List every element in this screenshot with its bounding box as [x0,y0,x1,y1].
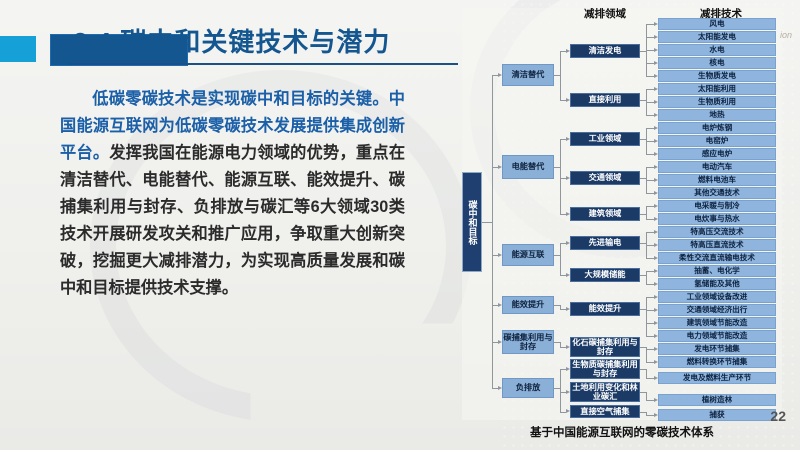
root-node-carbon-neutral-goal[interactable]: 碳中和目标 [462,172,482,272]
technology-tree-diagram: 减排领域 减排技术 碳中和目标 清洁替代电能替代能源互联能效提升碳捕集利用与封存… [452,0,800,450]
connector-line [646,167,654,168]
connector-line [646,245,654,246]
tech-node-24[interactable]: 电力领域节能改造 [658,330,776,342]
connector-line [646,297,654,298]
connector-line [646,76,654,77]
tech-node-11[interactable]: 电动汽车 [658,161,776,173]
connector-line [646,141,654,142]
connector-line [646,37,654,38]
connector-line [646,392,647,400]
tech-node-2[interactable]: 水电 [658,44,776,56]
level2-node-5[interactable]: 负排放 [502,378,554,398]
connector-line [482,222,492,223]
connector-line [560,243,561,275]
body-rest: 发挥我国在能源电力领域的优势，重点在清洁替代、电能替代、能源互联、能效提升、碳捕… [60,144,405,297]
tech-node-15[interactable]: 电炊事与热水 [658,213,776,225]
tech-node-1[interactable]: 太阳能发电 [658,31,776,43]
tech-node-18[interactable]: 柔性交流直流输电技术 [658,252,776,264]
tech-node-8[interactable]: 电炉炼钢 [658,122,776,134]
tech-node-3[interactable]: 核电 [658,57,776,69]
connector-line [646,378,654,379]
tech-node-4[interactable]: 生物质发电 [658,70,776,82]
page-number: 22 [770,408,786,424]
connector-line [646,50,654,51]
connector-line [646,180,654,181]
tech-node-22[interactable]: 交通领域经济出行 [658,304,776,316]
level3-node-3[interactable]: 交通领域 [570,171,640,185]
tech-node-25[interactable]: 发电环节捕集 [658,343,776,355]
connector-line [646,206,647,219]
connector-line [646,128,654,129]
connector-line [646,284,654,285]
connector-line [560,139,561,214]
page-title: 3.4 碳中和关键技术与潜力 [73,22,390,59]
level3-node-2[interactable]: 工业领域 [570,132,640,146]
tech-node-19[interactable]: 抽蓄、电化学 [658,265,776,277]
tech-node-28[interactable]: 植树造林 [658,394,776,406]
level3-node-8[interactable]: 化石碳捕集利用与封存 [570,337,640,357]
tech-node-0[interactable]: 风电 [658,18,776,30]
connector-line [646,400,654,401]
connector-line [560,51,561,100]
connector-line [646,336,654,337]
connector-line [646,271,647,284]
tech-node-26[interactable]: 燃料转换环节捕集 [658,356,776,368]
connector-line [646,323,654,324]
tech-node-20[interactable]: 氢储能及其他 [658,278,776,290]
connector-line [646,24,654,25]
connector-line [646,193,654,194]
connector-line [646,63,654,64]
connector-line [646,258,654,259]
level3-node-11[interactable]: 直接空气捕集 [570,405,640,418]
tech-node-5[interactable]: 太阳能利用 [658,83,776,95]
tech-node-21[interactable]: 工业领域设备改进 [658,291,776,303]
tech-node-23[interactable]: 建筑领域节能改造 [658,317,776,329]
tech-node-16[interactable]: 特高压交流技术 [658,226,776,238]
level3-node-1[interactable]: 直接利用 [570,93,640,107]
level2-node-0[interactable]: 清洁替代 [502,64,554,86]
ghost-watermark-text: ion [780,30,792,40]
slide-canvas: 3.4 碳中和关键技术与潜力 低碳零碳技术是实现碳中和目标的关键。中国能源互联网… [0,0,800,450]
connector-line [646,349,654,350]
level2-node-3[interactable]: 能效提升 [502,296,554,314]
connector-line [646,219,654,220]
connector-line [646,154,654,155]
title-underline [68,63,458,65]
column-header-area: 减排领域 [558,6,652,21]
tech-node-27[interactable]: 发电及燃料生产环节 [658,372,776,384]
tech-node-10[interactable]: 感应电炉 [658,148,776,160]
connector-line [646,297,647,336]
figure-caption: 基于中国能源互联网的零碳技术体系 [452,424,792,440]
tech-node-14[interactable]: 电采暖与制冷 [658,200,776,212]
level3-node-7[interactable]: 能效提升 [570,302,640,316]
level2-node-1[interactable]: 电能替代 [502,155,554,179]
level3-node-4[interactable]: 建筑领域 [570,207,640,221]
tech-node-17[interactable]: 特高压直流技术 [658,239,776,251]
connector-line [646,271,654,272]
level2-node-4[interactable]: 碳捕集利用与封存 [502,330,554,354]
accent-block-cyan [0,36,36,62]
body-paragraph: 低碳零碳技术是实现碳中和目标的关键。中国能源互联网为低碳零碳技术发展提供集成创新… [60,86,405,302]
tech-node-12[interactable]: 燃料电池车 [658,174,776,186]
connector-line [646,415,654,416]
connector-line [560,369,561,412]
connector-line [646,89,654,90]
tech-node-7[interactable]: 地热 [658,109,776,121]
connector-line [646,310,654,311]
level3-node-5[interactable]: 先进输电 [570,236,640,250]
level3-node-10[interactable]: 土地利用变化和林业碳汇 [570,382,640,402]
level3-node-0[interactable]: 清洁发电 [570,44,640,58]
connector-line [646,362,654,363]
tech-node-6[interactable]: 生物质利用 [658,96,776,108]
level3-node-6[interactable]: 大规模储能 [570,268,640,282]
level3-node-9[interactable]: 生物质碳捕集利用与封存 [570,359,640,379]
tech-node-9[interactable]: 电窑炉 [658,135,776,147]
connector-line [646,369,647,378]
level2-node-2[interactable]: 能源互联 [502,244,554,266]
connector-line [646,115,654,116]
connector-line [646,206,654,207]
connector-line [646,232,654,233]
tech-node-29[interactable]: 捕获 [658,409,776,421]
tech-node-13[interactable]: 其他交通技术 [658,187,776,199]
connector-line [646,102,654,103]
